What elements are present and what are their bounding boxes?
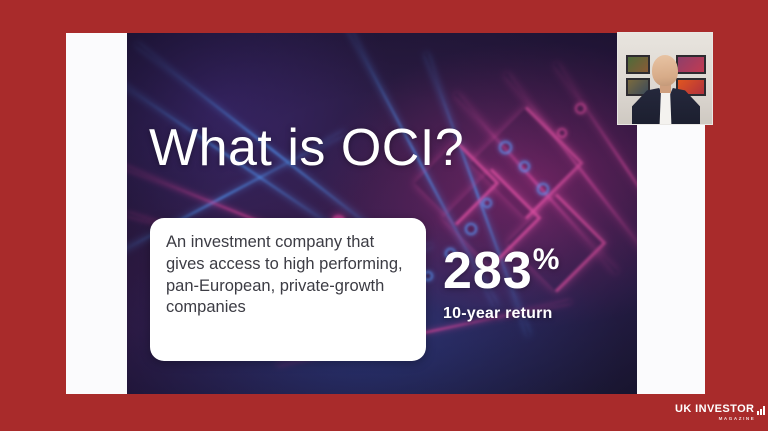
bar-chart-icon [757, 406, 765, 415]
framed-artwork [626, 55, 650, 74]
presenter-webcam-overlay[interactable] [617, 32, 713, 125]
statistic-number: 283 [443, 242, 533, 300]
statistic-block: 283% 10-year return [443, 245, 623, 323]
statistic-caption: 10-year return [443, 305, 623, 323]
presenter-head [652, 55, 678, 86]
logo-name: UK INVESTOR [675, 404, 754, 415]
logo-row: UK INVESTOR [675, 404, 765, 415]
description-card: An investment company that gives access … [150, 218, 426, 361]
statistic-unit: % [533, 243, 560, 276]
slide-title: What is OCI? [149, 122, 464, 174]
description-text: An investment company that gives access … [166, 232, 410, 319]
magazine-logo: UK INVESTOR MAGAZINE [675, 404, 765, 422]
statistic-value: 283% [443, 245, 623, 297]
screen: What is OCI? An investment company that … [0, 0, 768, 431]
logo-subtitle: MAGAZINE [719, 417, 756, 422]
framed-artwork [676, 55, 706, 74]
